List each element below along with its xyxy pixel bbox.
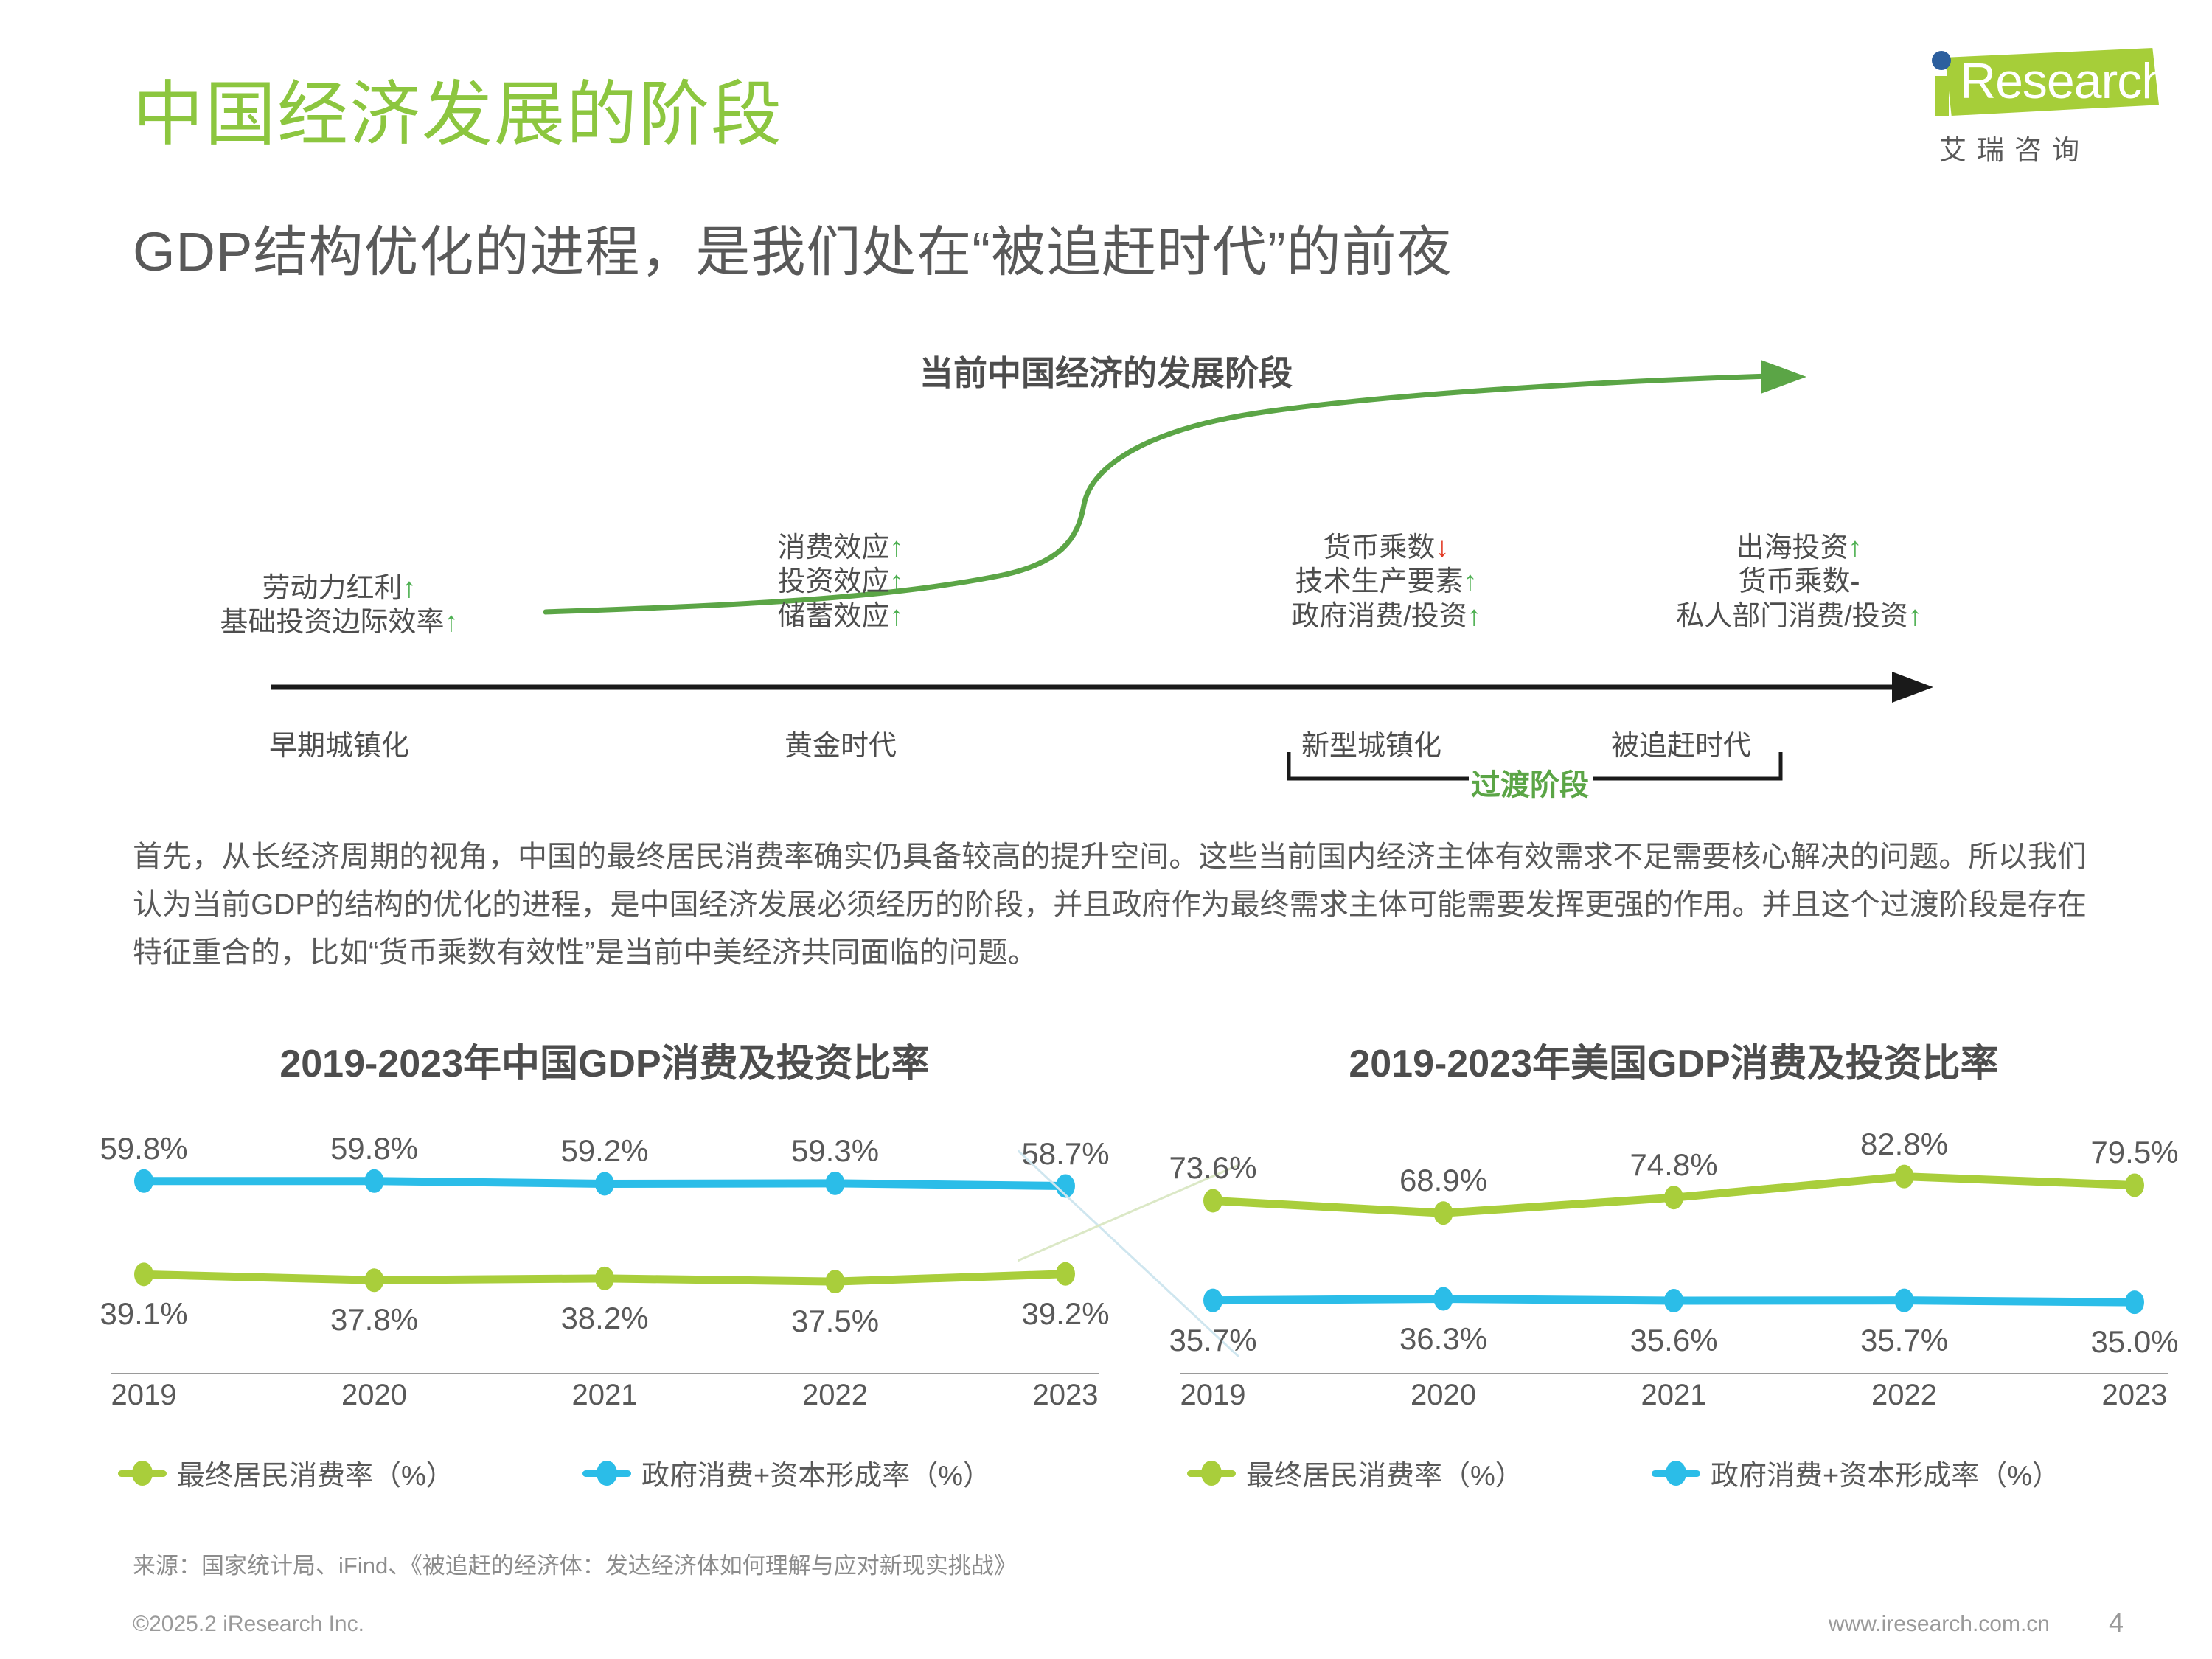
data-label: 73.6% [1169, 1150, 1256, 1186]
data-point [134, 1169, 153, 1193]
data-point [365, 1268, 384, 1292]
data-point [2125, 1173, 2144, 1197]
data-label: 35.6% [1630, 1323, 1717, 1358]
timeline-arrowhead [1892, 672, 1933, 703]
economy-stage-diagram: 当前中国经济的发展阶段 劳动力红利↑ 基础投资边际效率↑ 消费效应↑ 投资效应↑… [0, 347, 2212, 818]
transition-bracket-left [1289, 752, 1469, 779]
legend-item-household-consumption[interactable]: 最终居民消费率（%） [1187, 1453, 1523, 1493]
chart-us-axis-line [1180, 1373, 2168, 1374]
legend-item-household-consumption[interactable]: 最终居民消费率（%） [118, 1453, 454, 1493]
data-point [1434, 1287, 1453, 1311]
iresearch-logo: Research 艾瑞咨询 [1902, 41, 2183, 181]
x-axis-tick: 2021 [572, 1379, 638, 1412]
data-label: 74.8% [1630, 1147, 1717, 1183]
data-point [1434, 1201, 1453, 1225]
data-label: 59.3% [791, 1133, 879, 1169]
slide: 中国经济发展的阶段 GDP结构优化的进程，是我们处在“被追赶时代”的前夜 Res… [0, 0, 2212, 1659]
legend-label: 最终居民消费率（%） [177, 1453, 454, 1493]
logo-mark: Research [1917, 41, 2160, 122]
data-label: 35.7% [1860, 1323, 1948, 1358]
source-note: 来源：国家统计局、iFind、《被追赶的经济体：发达经济体如何理解与应对新现实挑… [133, 1547, 1017, 1580]
logo-i-dot-icon [1932, 51, 1951, 70]
data-point [1895, 1165, 1914, 1189]
chart-us-legend: 最终居民消费率（%） 政府消费+资本形成率（%） [1180, 1453, 2168, 1504]
chart-us-plot: 73.6%68.9%74.8%82.8%79.5%35.7%36.3%35.6%… [1180, 1100, 2168, 1373]
x-axis-tick: 2022 [802, 1379, 868, 1412]
body-paragraph: 首先，从长经济周期的视角，中国的最终居民消费率确实仍具备较高的提升空间。这些当前… [133, 833, 2087, 976]
website-url[interactable]: www.iresearch.com.cn [1829, 1612, 2050, 1637]
data-point [1664, 1289, 1683, 1312]
chart-us: 2019-2023年美国GDP消费及投资比率 73.6%68.9%74.8%82… [1180, 1032, 2168, 1548]
growth-curve [546, 376, 1770, 612]
diagram-graphics [0, 347, 2212, 818]
data-label: 37.8% [330, 1302, 418, 1338]
logo-chinese-name: 艾瑞咨询 [1939, 128, 2090, 167]
x-axis-tick: 2023 [2102, 1379, 2168, 1412]
data-point [595, 1267, 614, 1290]
data-label: 35.0% [2090, 1324, 2178, 1360]
data-label: 37.5% [791, 1304, 879, 1339]
chart-china-legend: 最终居民消费率（%） 政府消费+资本形成率（%） [111, 1453, 1099, 1504]
x-axis-tick: 2021 [1641, 1379, 1707, 1412]
data-label: 59.8% [330, 1131, 418, 1166]
data-point [595, 1172, 614, 1195]
chart-us-x-axis: 20192020202120222023 [1180, 1379, 2168, 1423]
legend-item-government-consumption[interactable]: 政府消费+资本形成率（%） [582, 1453, 991, 1493]
data-label: 36.3% [1399, 1321, 1487, 1357]
data-label: 82.8% [1860, 1127, 1948, 1162]
legend-label: 最终居民消费率（%） [1246, 1453, 1523, 1493]
legend-marker-green-icon [1187, 1461, 1236, 1486]
legend-label: 政府消费+资本形成率（%） [1711, 1453, 2060, 1493]
legend-item-government-consumption[interactable]: 政府消费+资本形成率（%） [1652, 1453, 2060, 1493]
data-point [826, 1270, 845, 1293]
footer-divider [111, 1593, 2101, 1593]
data-point [826, 1172, 845, 1195]
data-label: 39.1% [100, 1296, 187, 1332]
data-point [1203, 1289, 1222, 1312]
chart-china-plot: 39.1%37.8%38.2%37.5%39.2%59.8%59.8%59.2%… [111, 1100, 1099, 1373]
data-point [134, 1262, 153, 1286]
legend-marker-blue-icon [1652, 1461, 1700, 1486]
data-label: 68.9% [1399, 1163, 1487, 1198]
x-axis-tick: 2020 [341, 1379, 407, 1412]
logo-wordmark: Research [1960, 54, 2168, 108]
data-label: 59.2% [560, 1133, 648, 1169]
legend-label: 政府消费+资本形成率（%） [641, 1453, 991, 1493]
transition-bracket-right [1593, 752, 1781, 779]
data-label: 35.7% [1169, 1323, 1256, 1358]
legend-marker-blue-icon [582, 1461, 631, 1486]
data-point [365, 1169, 384, 1193]
growth-curve-arrowhead [1761, 360, 1806, 394]
data-label: 59.8% [100, 1131, 187, 1166]
data-point [2125, 1290, 2144, 1314]
chart-china-x-axis: 20192020202120222023 [111, 1379, 1099, 1423]
page-number: 4 [2109, 1607, 2124, 1638]
legend-marker-green-icon [118, 1461, 167, 1486]
x-axis-tick: 2019 [1180, 1379, 1246, 1412]
copyright-text: ©2025.2 iResearch Inc. [133, 1612, 364, 1637]
logo-i-stem-icon [1935, 76, 1949, 116]
x-axis-tick: 2022 [1871, 1379, 1937, 1412]
chart-china-title: 2019-2023年中国GDP消费及投资比率 [111, 1032, 1099, 1088]
data-label: 38.2% [560, 1301, 648, 1336]
page-title: 中国经济发展的阶段 [133, 80, 783, 150]
x-axis-tick: 2019 [111, 1379, 177, 1412]
x-axis-tick: 2023 [1033, 1379, 1099, 1412]
data-label: 79.5% [2090, 1135, 2178, 1170]
chart-china-axis-line [111, 1373, 1099, 1374]
chart-us-title: 2019-2023年美国GDP消费及投资比率 [1180, 1032, 2168, 1088]
page-subtitle: GDP结构优化的进程，是我们处在“被追赶时代”的前夜 [133, 225, 1453, 279]
chart-china: 2019-2023年中国GDP消费及投资比率 39.1%37.8%38.2%37… [111, 1032, 1099, 1548]
data-point [1895, 1289, 1914, 1312]
data-point [1664, 1186, 1683, 1209]
data-point [1203, 1189, 1222, 1212]
x-axis-tick: 2020 [1411, 1379, 1476, 1412]
